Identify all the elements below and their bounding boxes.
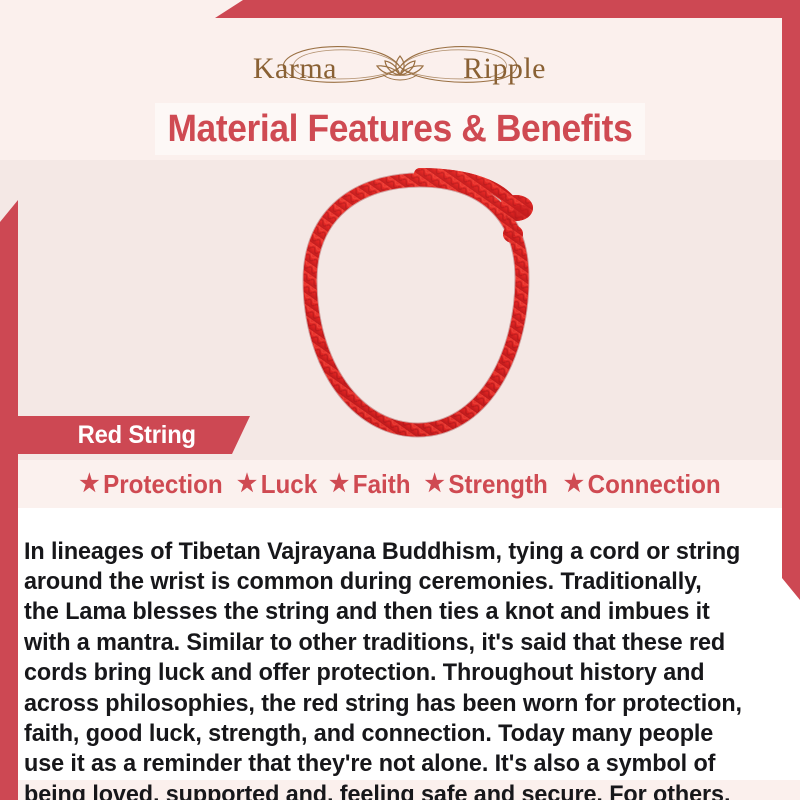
- feature-item-strength: ★ Strength: [424, 469, 547, 500]
- feature-list: ★ Protection ★ Luck ★ Faith ★ Strength ★…: [18, 462, 782, 506]
- brand-name-left: Karma: [253, 52, 337, 85]
- infographic-card: Karma Ripple Material Features & Benefit…: [0, 0, 800, 800]
- feature-item-luck: ★ Luck: [237, 469, 317, 500]
- page-title-box: Material Features & Benefits: [155, 103, 645, 155]
- bracelet-loop: [310, 174, 522, 430]
- section-ribbon-label: Red String: [23, 421, 196, 450]
- decorative-band-top: [215, 0, 800, 18]
- star-icon: ★: [79, 472, 99, 496]
- lotus-icon: [377, 56, 423, 80]
- brand-name-right: Ripple: [463, 52, 546, 85]
- feature-label: Strength: [448, 469, 547, 500]
- feature-label: Protection: [103, 469, 223, 500]
- feature-item-faith: ★ Faith: [329, 469, 410, 500]
- feature-item-protection: ★ Protection: [79, 469, 222, 500]
- section-ribbon: Red String: [18, 416, 250, 454]
- product-image-red-string-bracelet: [268, 168, 572, 452]
- star-icon: ★: [329, 472, 349, 496]
- brand-logo: Karma Ripple: [0, 36, 800, 98]
- page-title: Material Features & Benefits: [168, 108, 633, 151]
- star-icon: ★: [237, 472, 257, 496]
- feature-label: Faith: [353, 469, 411, 500]
- description-paragraph: In lineages of Tibetan Vajrayana Buddhis…: [24, 537, 742, 800]
- star-icon: ★: [424, 472, 444, 496]
- decorative-band-left: [0, 200, 18, 800]
- feature-label: Connection: [588, 469, 721, 500]
- brand-logo-svg: Karma Ripple: [235, 36, 565, 98]
- feature-label: Luck: [260, 469, 316, 500]
- feature-item-connection: ★ Connection: [564, 469, 721, 500]
- star-icon: ★: [564, 472, 584, 496]
